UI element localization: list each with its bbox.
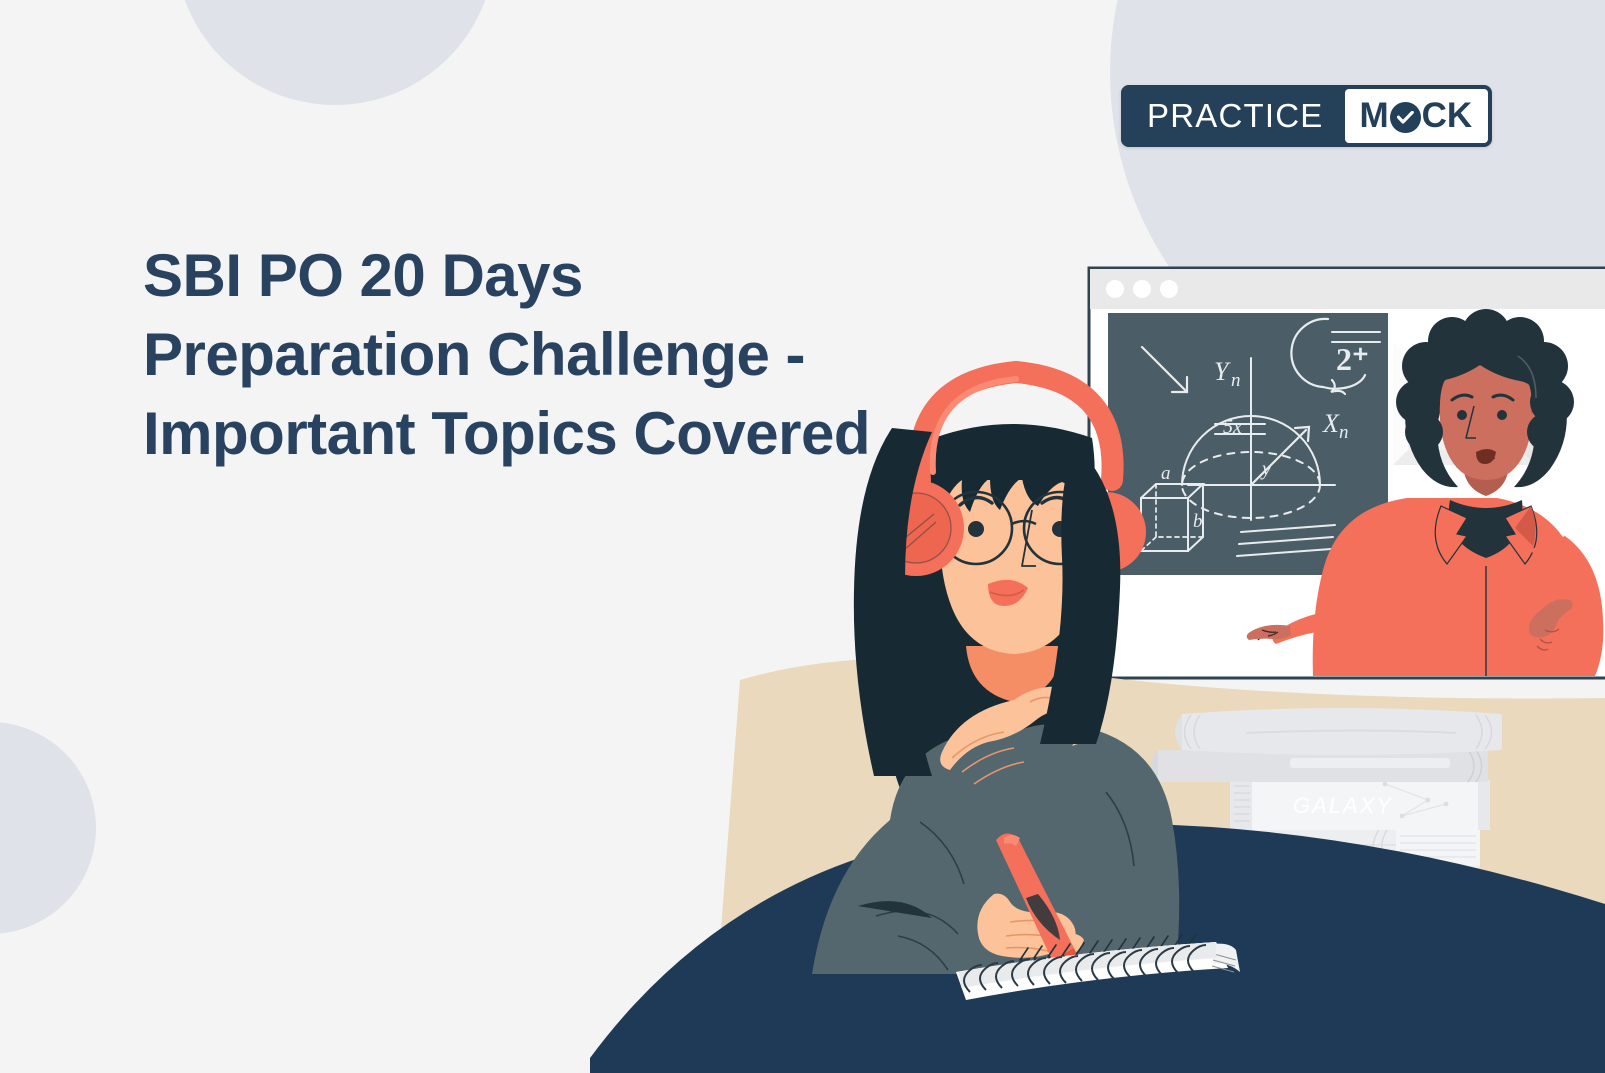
logo-mock-ck: CK [1422, 96, 1473, 136]
logo-mock-m: M [1359, 96, 1388, 136]
board-label-5x: 5x [1223, 416, 1242, 438]
student-eye-left [968, 521, 984, 537]
board-label-a: a [1161, 463, 1171, 484]
board-label-2plus: 2⁺ [1336, 341, 1369, 377]
video-call-window[interactable]: Y n X n 5x y a b 2⁺ [1089, 268, 1605, 678]
board-label-y: y [1260, 458, 1271, 480]
logo-word-mock: M CK [1359, 96, 1472, 136]
board-label-xn-sub: n [1339, 422, 1349, 443]
illustration-svg: Y n X n 5x y a b 2⁺ [590, 180, 1605, 1073]
logo-badge-mock: M CK [1345, 89, 1488, 143]
online-class-illustration: Y n X n 5x y a b 2⁺ [590, 180, 1605, 1073]
board-label-b: b [1193, 511, 1203, 532]
window-dot-2 [1133, 280, 1151, 298]
practicemock-logo[interactable]: PRACTICE M CK [1121, 85, 1492, 147]
board-label-yn: Y [1214, 357, 1231, 386]
book-spine-label: GALAXY [1293, 793, 1393, 818]
teacher-eye-right [1497, 410, 1507, 420]
logo-word-practice: PRACTICE [1121, 85, 1345, 147]
teacher-eye-left [1457, 410, 1467, 420]
check-icon [1390, 102, 1421, 133]
window-dot-3 [1160, 280, 1178, 298]
poster-canvas: PRACTICE M CK SBI PO 20 Days Preparation… [0, 0, 1605, 1073]
book-galaxy: GALAXY [1230, 780, 1490, 830]
board-label-yn-sub: n [1231, 370, 1241, 391]
window-dot-1 [1106, 280, 1124, 298]
book-top [1175, 708, 1502, 755]
board-label-xn: X [1322, 409, 1340, 438]
